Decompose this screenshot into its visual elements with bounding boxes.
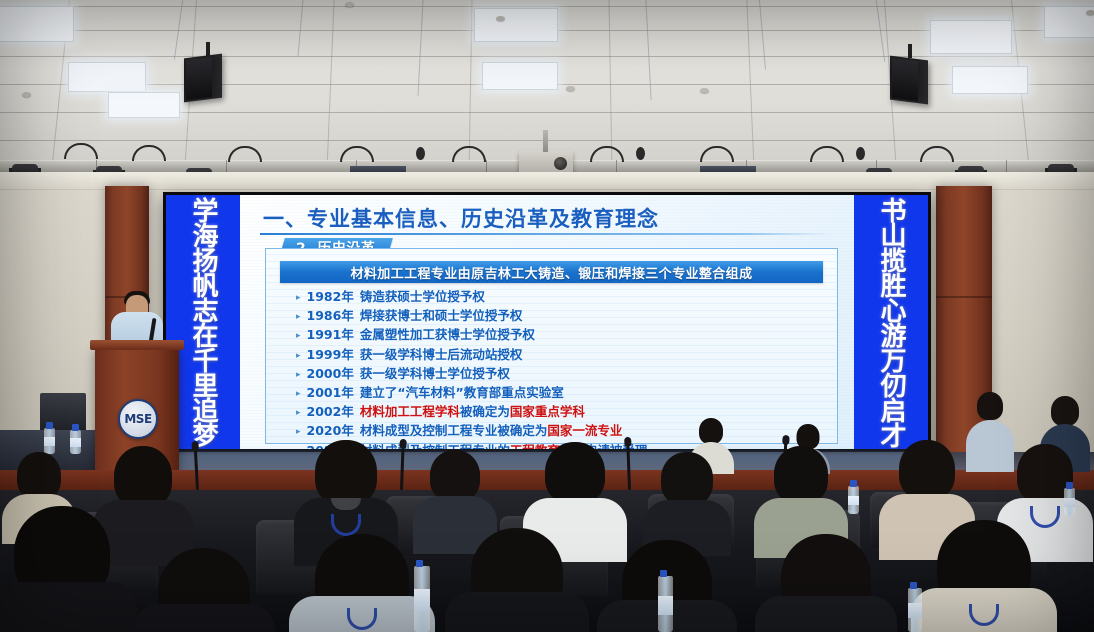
slide-content-box: 材料加工工程专业由原吉林工大铸造、锻压和焊接三个专业整合组成 ▸1982年铸造获…	[265, 248, 838, 444]
attendee	[452, 528, 582, 632]
led-banner-right-text: 书山揽胜心游万仞启才	[878, 195, 904, 449]
ceiling-panel-light	[952, 66, 1028, 94]
bullet-marker-icon: ▸	[296, 409, 301, 418]
water-bottle	[70, 430, 81, 454]
attendee	[296, 534, 428, 632]
timeline-bullet: ▸1991年金属塑性加工获博士学位授予权	[296, 329, 827, 342]
water-bottle	[1064, 488, 1075, 516]
bullet-text: 材料成型及控制工程专业被确定为国家一流专业	[360, 425, 623, 438]
timeline-bullet-list: ▸1982年铸造获硕士学位授予权▸1986年焊接获博士和硕士学位授予权▸1991…	[296, 291, 827, 449]
bullet-marker-icon: ▸	[296, 390, 301, 399]
ceiling-panel-light	[0, 6, 74, 42]
bullet-text: 焊接获博士和硕士学位授予权	[360, 310, 523, 323]
led-banner-left-text: 学海扬帆志在千里追梦	[190, 195, 216, 449]
slide-highlight-bar: 材料加工工程专业由原吉林工大铸造、锻压和焊接三个专业整合组成	[280, 261, 823, 283]
smoke-detector-icon	[700, 88, 709, 93]
timeline-bullet: ▸1999年获一级学科博士后流动站授权	[296, 349, 827, 362]
bullet-year: 2020年	[307, 425, 354, 438]
bullet-year: 2002年	[307, 406, 354, 419]
bullet-marker-icon: ▸	[296, 332, 301, 341]
smoke-detector-icon	[1086, 10, 1094, 15]
bullet-marker-icon: ▸	[296, 371, 301, 380]
water-bottle	[44, 428, 55, 454]
bullet-text: 铸造获硕士学位授予权	[360, 291, 485, 304]
hanging-speaker	[890, 56, 928, 105]
ceiling-panel-light	[108, 92, 180, 118]
bullet-marker-icon: ▸	[296, 428, 301, 437]
slide-highlight-text: 材料加工工程专业由原吉林工大铸造、锻压和焊接三个专业整合组成	[350, 263, 752, 282]
bullet-marker-icon: ▸	[296, 294, 301, 303]
led-banner-right: 书山揽胜心游万仞启才	[854, 195, 928, 449]
timeline-bullet: ▸2000年获一级学科博士学位授予权	[296, 368, 827, 381]
slide-title: 一、专业基本信息、历史沿革及教育理念	[263, 203, 659, 233]
projector-lens-icon	[554, 157, 567, 170]
smoke-detector-icon	[566, 86, 575, 91]
led-video-wall: 学海扬帆志在千里追梦 一、专业基本信息、历史沿革及教育理念 2. 历史沿革 材料…	[163, 192, 931, 452]
bullet-year: 1982年	[307, 291, 354, 304]
attendee	[140, 548, 268, 632]
bullet-year: 2001年	[307, 387, 354, 400]
bullet-text: 材料加工工程学科被确定为国家重点学科	[360, 406, 585, 419]
water-bottle	[658, 576, 673, 632]
mse-emblem-text: MSE	[124, 412, 151, 426]
ceiling-panel-light	[930, 20, 1012, 54]
bullet-text: 建立了“汽车材料”教育部重点实验室	[360, 387, 564, 400]
ceiling-panel-light	[482, 62, 558, 90]
attendee	[762, 534, 890, 632]
bullet-year: 1986年	[307, 310, 354, 323]
bullet-text: 金属塑性加工获博士学位授予权	[360, 329, 535, 342]
bullet-year: 1991年	[307, 329, 354, 342]
bullet-text: 获一级学科博士学位授予权	[360, 368, 510, 381]
wall-cornice	[0, 172, 1094, 190]
bullet-year: 2000年	[307, 368, 354, 381]
bullet-text: 获一级学科博士后流动站授权	[360, 349, 523, 362]
water-bottle	[414, 566, 430, 632]
timeline-bullet: ▸1982年铸造获硕士学位授予权	[296, 291, 827, 304]
bullet-year: 1999年	[307, 349, 354, 362]
timeline-bullet: ▸2001年建立了“汽车材料”教育部重点实验室	[296, 387, 827, 400]
timeline-bullet: ▸2020年材料成型及控制工程专业被确定为国家一流专业	[296, 425, 827, 438]
smoke-detector-icon	[496, 16, 505, 21]
ceiling-panel-light	[68, 62, 146, 92]
attendee	[918, 520, 1050, 632]
bullet-marker-icon: ▸	[296, 352, 301, 361]
title-divider	[260, 233, 830, 235]
water-bottle	[848, 486, 859, 514]
timeline-bullet: ▸2002年材料加工工程学科被确定为国家重点学科	[296, 406, 827, 419]
smoke-detector-icon	[22, 92, 31, 97]
attendee	[0, 506, 130, 632]
mse-emblem-icon: MSE	[118, 399, 158, 439]
ceiling-panel-light	[474, 8, 558, 42]
hanging-speaker	[184, 54, 222, 103]
smoke-detector-icon	[345, 2, 354, 7]
podium-top	[90, 340, 184, 350]
timeline-bullet: ▸1986年焊接获博士和硕士学位授予权	[296, 310, 827, 323]
lecture-hall-photo: 学海扬帆志在千里追梦 一、专业基本信息、历史沿革及教育理念 2. 历史沿革 材料…	[0, 0, 1094, 632]
presentation-slide: 一、专业基本信息、历史沿革及教育理念 2. 历史沿革 材料加工工程专业由原吉林工…	[240, 195, 854, 449]
water-bottle	[908, 588, 922, 632]
bullet-marker-icon: ▸	[296, 313, 301, 322]
